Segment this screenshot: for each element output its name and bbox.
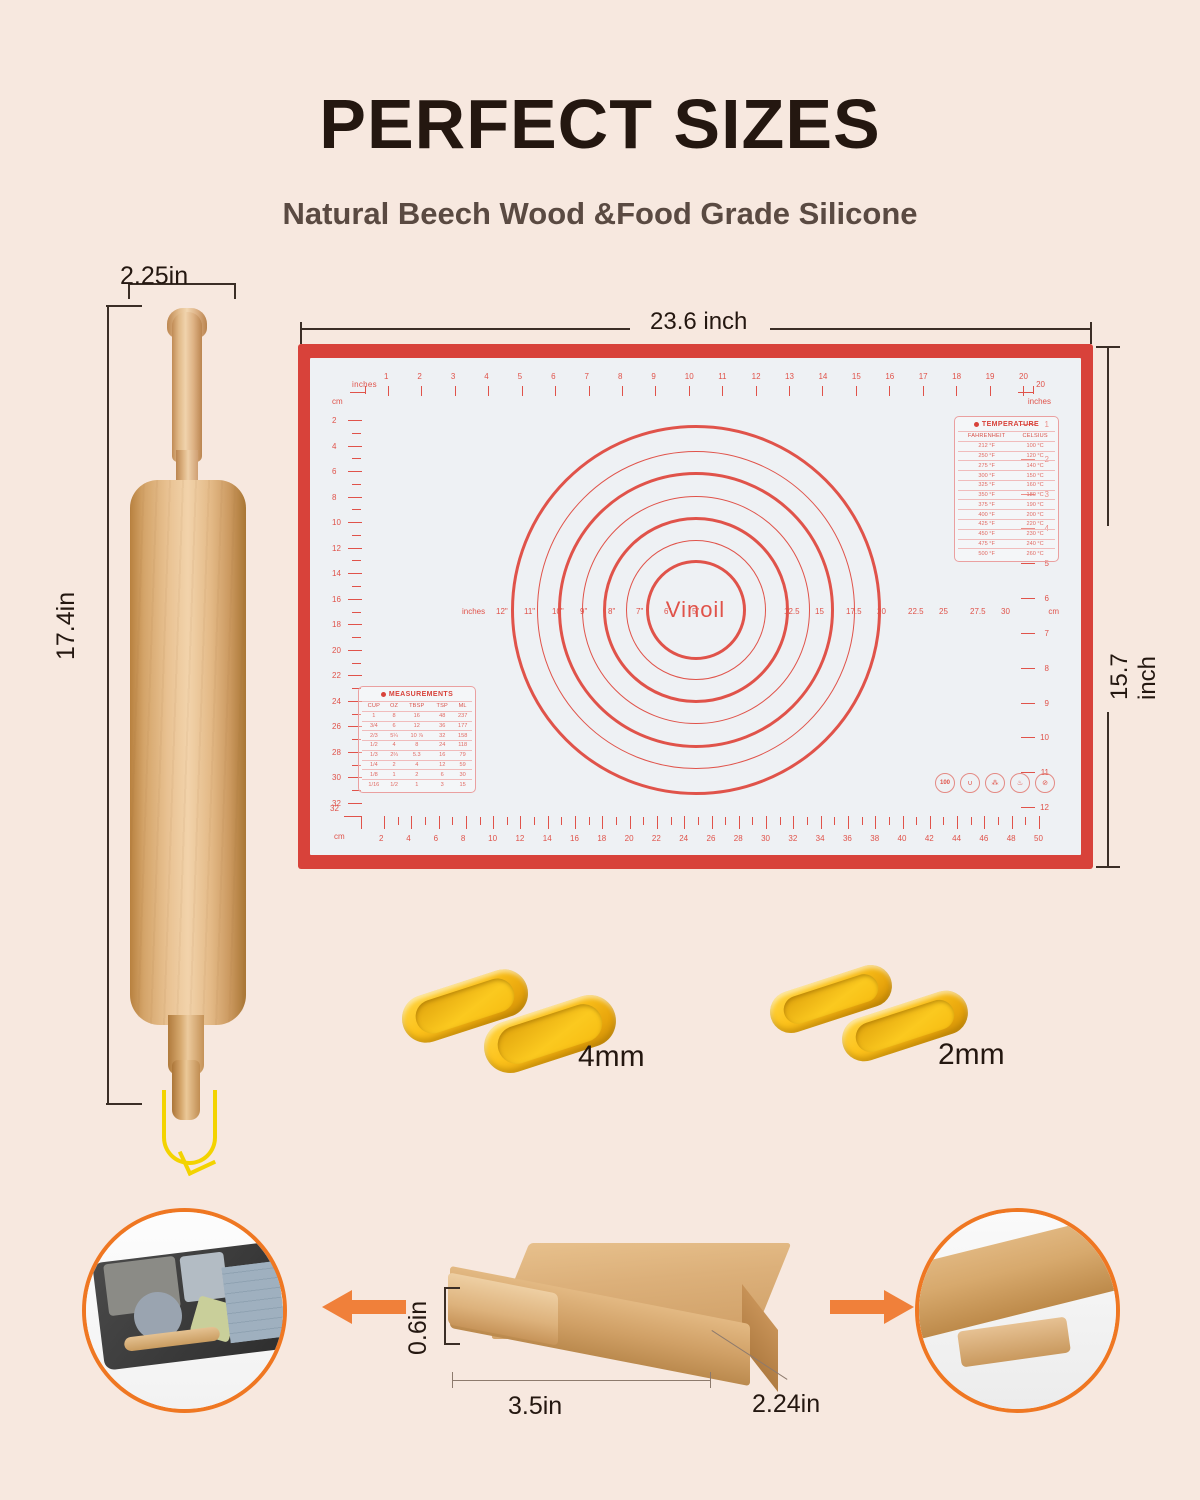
ruler-tick bbox=[1021, 598, 1035, 599]
ruler-label: 7 bbox=[1045, 629, 1049, 638]
ruler-tick bbox=[522, 386, 523, 396]
center-scale-label: 7" bbox=[636, 607, 643, 616]
ruler-half-tick bbox=[534, 817, 535, 825]
ruler-tick bbox=[421, 386, 422, 396]
ruler-tick bbox=[957, 816, 958, 829]
ruler-label: 26 bbox=[707, 834, 716, 843]
ruler-tick bbox=[348, 522, 362, 523]
ruler-label: 32 bbox=[332, 799, 341, 808]
center-scale-label: 30 bbox=[1001, 607, 1010, 616]
ruler-label: 22 bbox=[332, 671, 341, 680]
center-scale-label: 8" bbox=[608, 607, 615, 616]
table-cell: 5.3 bbox=[402, 750, 431, 760]
table-cell: 79 bbox=[453, 750, 472, 760]
ruler-half-tick bbox=[352, 535, 361, 536]
table-cell: 36 bbox=[431, 721, 453, 731]
heat-resistant-icon: ♨ bbox=[1010, 773, 1030, 793]
table-row: 500 °F260 °C bbox=[958, 549, 1055, 558]
ruler-tick bbox=[903, 816, 904, 829]
table-cell: 250 °F bbox=[958, 451, 1015, 461]
table-cell: 3/4 bbox=[362, 721, 386, 731]
ruler-tick bbox=[548, 816, 549, 829]
ruler-tick bbox=[488, 386, 489, 396]
ruler-label: 2 bbox=[417, 372, 421, 381]
mat-bottom-unit-cm: cm bbox=[334, 832, 345, 841]
ruler-tick bbox=[689, 386, 690, 396]
table-cell: 237 bbox=[453, 711, 472, 721]
table-row: 250 °F120 °C bbox=[958, 451, 1055, 461]
ruler-tick bbox=[956, 386, 957, 396]
table-cell: 350 °F bbox=[958, 490, 1015, 500]
certification-icons: 100∪⁂♨⊘ bbox=[935, 773, 1055, 793]
measurements-title: MEASUREMENTS bbox=[389, 691, 453, 698]
mat-width-line-right bbox=[770, 328, 1092, 330]
table-cell: 8 bbox=[386, 711, 403, 721]
ruler-label: 28 bbox=[734, 834, 743, 843]
ruler-tick bbox=[657, 816, 658, 829]
table-cell: 12 bbox=[402, 721, 431, 731]
ruler-tick bbox=[455, 386, 456, 396]
table-cell: 375 °F bbox=[958, 500, 1015, 510]
ruler-tick bbox=[766, 816, 767, 829]
mat-top-unit-inches-right: inches bbox=[1028, 397, 1051, 406]
ruler-tick bbox=[555, 386, 556, 396]
food-safe-icon: ∪ bbox=[960, 773, 980, 793]
pin-top-handle bbox=[172, 312, 202, 462]
table-cell: 16 bbox=[402, 711, 431, 721]
ruler-label: 50 bbox=[1034, 834, 1043, 843]
ruler-tick bbox=[348, 803, 362, 804]
table-column-header: ML bbox=[453, 701, 472, 711]
ruler-tick bbox=[348, 497, 362, 498]
table-row: 475 °F240 °C bbox=[958, 539, 1055, 549]
table-cell: 1 bbox=[386, 770, 403, 780]
ruler-tick bbox=[722, 386, 723, 396]
ruler-label: 4 bbox=[484, 372, 488, 381]
table-cell: 118 bbox=[453, 741, 472, 751]
ruler-label: 12 bbox=[515, 834, 524, 843]
table-cell: 450 °F bbox=[958, 529, 1015, 539]
table-cell: 4 bbox=[386, 741, 403, 751]
ruler-half-tick bbox=[352, 663, 361, 664]
ruler-label: 10 bbox=[1040, 733, 1049, 742]
ruler-label: 6 bbox=[434, 834, 438, 843]
ruler-tick bbox=[602, 816, 603, 829]
table-cell: 100 °C bbox=[1015, 441, 1055, 451]
inset-photo-phone-on-stand bbox=[82, 1208, 287, 1413]
ruler-half-tick bbox=[971, 817, 972, 825]
ruler-label: 18 bbox=[952, 372, 961, 381]
dishwasher-safe-icon: ⁂ bbox=[985, 773, 1005, 793]
ruler-label: 22 bbox=[652, 834, 661, 843]
ruler-label: 6 bbox=[332, 467, 336, 476]
table-column-header: TSP bbox=[431, 701, 453, 711]
ruler-tick bbox=[889, 386, 890, 396]
ruler-label: 9 bbox=[651, 372, 655, 381]
center-scale-left-unit: inches bbox=[462, 607, 485, 616]
ruler-tick bbox=[822, 386, 823, 396]
table-column-header: FAHRENHEIT bbox=[958, 432, 1015, 442]
ruler-half-tick bbox=[780, 817, 781, 825]
center-scale-label: 27.5 bbox=[970, 607, 986, 616]
ruler-tick bbox=[622, 386, 623, 396]
ruler-half-tick bbox=[352, 458, 361, 459]
ruler-label: 8 bbox=[332, 493, 336, 502]
table-cell: 1/4 bbox=[362, 760, 386, 770]
table-cell: 2 bbox=[402, 770, 431, 780]
ruler-label: 14 bbox=[818, 372, 827, 381]
ruler-label: 28 bbox=[332, 748, 341, 757]
ruler-label: 15 bbox=[852, 372, 861, 381]
ruler-tick bbox=[848, 816, 849, 829]
table-column-header: OZ bbox=[386, 701, 403, 711]
mat-surface: inches cm inches 12345678910111213141516… bbox=[310, 358, 1081, 855]
ruler-half-tick bbox=[643, 817, 644, 825]
ruler-label: 24 bbox=[679, 834, 688, 843]
center-scale-label: 10" bbox=[552, 607, 564, 616]
table-cell: 15 bbox=[453, 780, 472, 789]
table-row: 350 °F180 °C bbox=[958, 490, 1055, 500]
mat-width-tick-left bbox=[300, 322, 302, 344]
hundred-percent-icon: 100 bbox=[935, 773, 955, 793]
center-scale-label: 11" bbox=[524, 607, 535, 616]
ruler-label: 32 bbox=[788, 834, 797, 843]
ruler-tick bbox=[348, 573, 362, 574]
ruler-tick bbox=[493, 816, 494, 829]
ruler-label: 24 bbox=[332, 697, 341, 706]
ruler-half-tick bbox=[352, 509, 361, 510]
table-cell: 24 bbox=[431, 741, 453, 751]
table-row: 375 °F190 °C bbox=[958, 500, 1055, 510]
ruler-label: 16 bbox=[570, 834, 579, 843]
center-scale-label: 20 bbox=[877, 607, 886, 616]
ruler-label: 30 bbox=[332, 773, 341, 782]
ruler-label: 44 bbox=[952, 834, 961, 843]
mat-height-line-bottom bbox=[1107, 712, 1109, 867]
brand-logo: Vinoil bbox=[666, 597, 725, 623]
table-cell: 150 °C bbox=[1015, 471, 1055, 481]
ruler-tick bbox=[1012, 816, 1013, 829]
table-cell: 158 bbox=[453, 731, 472, 741]
ruler-tick bbox=[1021, 703, 1035, 704]
ruler-half-tick bbox=[480, 817, 481, 825]
ruler-half-tick bbox=[671, 817, 672, 825]
ruler-tick bbox=[630, 816, 631, 829]
ruler-tick bbox=[789, 386, 790, 396]
temperature-title: TEMPERATURE bbox=[982, 421, 1039, 428]
table-cell: 32 bbox=[431, 731, 453, 741]
table-row: 181648237 bbox=[362, 711, 472, 721]
ruler-tick bbox=[348, 675, 362, 676]
center-scale-label: 25 bbox=[939, 607, 948, 616]
ruler-tick bbox=[875, 816, 876, 829]
ruler-half-tick bbox=[943, 817, 944, 825]
ruler-label: 6 bbox=[1045, 594, 1049, 603]
ruler-label: 48 bbox=[1007, 834, 1016, 843]
table-row: 450 °F230 °C bbox=[958, 529, 1055, 539]
stand-depth-label: 2.24in bbox=[752, 1390, 820, 1419]
ruler-tick bbox=[684, 816, 685, 829]
center-scale-label: 17.5 bbox=[846, 607, 862, 616]
page-title: PERFECT SIZES bbox=[0, 84, 1200, 164]
ruler-half-tick bbox=[1025, 817, 1026, 825]
rolling-pin-illustration bbox=[110, 290, 300, 1120]
table-row: 300 °F150 °C bbox=[958, 471, 1055, 481]
ruler-tick bbox=[821, 816, 822, 829]
ruler-tick bbox=[1023, 386, 1024, 396]
table-cell: 16 bbox=[431, 750, 453, 760]
ruler-half-tick bbox=[398, 817, 399, 825]
ruler-half-tick bbox=[862, 817, 863, 825]
mat-width-label: 23.6 inch bbox=[650, 308, 747, 336]
table-cell: 1/3 bbox=[362, 750, 386, 760]
ring-label-2mm: 2mm bbox=[938, 1038, 1005, 1072]
inset-photo-pin-on-stand bbox=[915, 1208, 1120, 1413]
table-row: 1/24824118 bbox=[362, 741, 472, 751]
ruler-tick bbox=[655, 386, 656, 396]
ruler-tick bbox=[348, 650, 362, 651]
ruler-half-tick bbox=[889, 817, 890, 825]
ring-label-4mm: 4mm bbox=[578, 1040, 645, 1074]
table-cell: 260 °C bbox=[1015, 549, 1055, 558]
ruler-half-tick bbox=[352, 612, 361, 613]
table-column-header: TBSP bbox=[402, 701, 431, 711]
ruler-tick bbox=[348, 548, 362, 549]
ruler-label: 8 bbox=[461, 834, 465, 843]
temperature-table: TEMPERATURE FAHRENHEITCELSIUS212 °F100 °… bbox=[954, 416, 1059, 562]
ruler-label: 16 bbox=[332, 595, 341, 604]
ruler-label: 14 bbox=[543, 834, 552, 843]
ruler-label: 20 bbox=[1019, 372, 1028, 381]
ruler-label: 42 bbox=[925, 834, 934, 843]
ruler-half-tick bbox=[807, 817, 808, 825]
ruler-tick bbox=[856, 386, 857, 396]
table-cell: 10 ⅞ bbox=[402, 731, 431, 741]
ruler-half-tick bbox=[352, 637, 361, 638]
table-row: 1/161/21315 bbox=[362, 780, 472, 789]
stand-width-label: 3.5in bbox=[508, 1392, 562, 1421]
ruler-label: 18 bbox=[597, 834, 606, 843]
table-cell: 160 °C bbox=[1015, 480, 1055, 490]
ruler-half-tick bbox=[352, 560, 361, 561]
measurements-table: MEASUREMENTS CUPOZTBSPTSPML1816482373/46… bbox=[358, 686, 476, 793]
ruler-label: 19 bbox=[986, 372, 995, 381]
ruler-label: 26 bbox=[332, 722, 341, 731]
ruler-tick bbox=[1021, 737, 1035, 738]
ruler-label: 6 bbox=[551, 372, 555, 381]
table-cell: 300 °F bbox=[958, 471, 1015, 481]
ruler-half-tick bbox=[916, 817, 917, 825]
table-cell: 2/3 bbox=[362, 731, 386, 741]
ruler-label: 14 bbox=[332, 569, 341, 578]
wooden-stand-illustration bbox=[448, 1243, 788, 1393]
ruler-label: 10 bbox=[332, 518, 341, 527]
ruler-label: 12 bbox=[332, 544, 341, 553]
ruler-half-tick bbox=[352, 586, 361, 587]
ruler-half-tick bbox=[998, 817, 999, 825]
ruler-tick bbox=[520, 816, 521, 829]
table-column-header: CUP bbox=[362, 701, 386, 711]
table-cell: 140 °C bbox=[1015, 461, 1055, 471]
stand-width-tick-right bbox=[710, 1372, 711, 1388]
ruler-tick bbox=[930, 816, 931, 829]
pin-width-tick-right bbox=[234, 283, 236, 299]
ruler-tick bbox=[575, 816, 576, 829]
ruler-tick bbox=[1021, 668, 1035, 669]
ruler-label: 30 bbox=[761, 834, 770, 843]
table-row: 3/461236177 bbox=[362, 721, 472, 731]
table-column-header: CELSIUS bbox=[1015, 432, 1055, 442]
table-cell: 5¼ bbox=[386, 731, 403, 741]
ruler-half-tick bbox=[352, 433, 361, 434]
stand-height-label: 0.6in bbox=[404, 1301, 433, 1355]
table-cell: 1/2 bbox=[362, 741, 386, 751]
ruler-label: 16 bbox=[885, 372, 894, 381]
ruler-label: 11 bbox=[718, 372, 726, 381]
ruler-label: 20 bbox=[332, 646, 341, 655]
ruler-half-tick bbox=[561, 817, 562, 825]
table-cell: 230 °C bbox=[1015, 529, 1055, 539]
ruler-half-tick bbox=[616, 817, 617, 825]
ruler-label: 1 bbox=[384, 372, 388, 381]
table-cell: 325 °F bbox=[958, 480, 1015, 490]
ruler-tick bbox=[712, 816, 713, 829]
ruler-label: 2 bbox=[379, 834, 383, 843]
table-cell: 177 bbox=[453, 721, 472, 731]
ruler-tick bbox=[348, 599, 362, 600]
ruler-tick bbox=[1021, 563, 1035, 564]
ruler-half-tick bbox=[725, 817, 726, 825]
ruler-half-tick bbox=[425, 817, 426, 825]
center-scale-right-unit: cm bbox=[1048, 607, 1059, 616]
ruler-label: 34 bbox=[816, 834, 825, 843]
table-row: 2/35¼10 ⅞32158 bbox=[362, 731, 472, 741]
ruler-half-tick bbox=[834, 817, 835, 825]
table-cell: 200 °C bbox=[1015, 510, 1055, 520]
table-row: 275 °F140 °C bbox=[958, 461, 1055, 471]
pin-length-label: 17.4in bbox=[52, 592, 81, 660]
table-cell: 240 °C bbox=[1015, 539, 1055, 549]
stand-width-tick-left bbox=[452, 1372, 453, 1388]
table-row: 425 °F220 °C bbox=[958, 520, 1055, 530]
ruler-tick bbox=[388, 386, 389, 396]
ruler-label: 3 bbox=[451, 372, 455, 381]
ruler-label: 17 bbox=[919, 372, 928, 381]
stand-height-tick-top bbox=[444, 1287, 460, 1289]
table-row: 1/4241259 bbox=[362, 760, 472, 770]
ruler-label: 4 bbox=[332, 442, 336, 451]
page-subtitle: Natural Beech Wood &Food Grade Silicone bbox=[0, 196, 1200, 232]
ruler-tick bbox=[411, 816, 412, 829]
ruler-label: 9 bbox=[1045, 699, 1049, 708]
table-row: 1/32⅔5.31679 bbox=[362, 750, 472, 760]
ruler-label: 8 bbox=[618, 372, 622, 381]
ruler-tick bbox=[589, 386, 590, 396]
ruler-tick bbox=[739, 816, 740, 829]
table-cell: 1 bbox=[362, 711, 386, 721]
ruler-label: 4 bbox=[406, 834, 410, 843]
table-cell: 8 bbox=[402, 741, 431, 751]
ruler-label: 38 bbox=[870, 834, 879, 843]
table-cell: 3 bbox=[431, 780, 453, 789]
ruler-label: 8 bbox=[1045, 664, 1049, 673]
ruler-label: 20 bbox=[625, 834, 634, 843]
no-knife-icon: ⊘ bbox=[1035, 773, 1055, 793]
ruler-tick bbox=[1021, 807, 1035, 808]
mat-height-label: 15.7 inch bbox=[1106, 606, 1162, 700]
table-cell: 220 °C bbox=[1015, 520, 1055, 530]
table-cell: 1/8 bbox=[362, 770, 386, 780]
pin-length-line bbox=[107, 305, 109, 1103]
pin-length-tick-bottom bbox=[106, 1103, 142, 1105]
ruler-tick bbox=[990, 386, 991, 396]
table-row: 212 °F100 °C bbox=[958, 441, 1055, 451]
stand-height-tick-bottom bbox=[444, 1343, 460, 1345]
ruler-label: 12 bbox=[1040, 803, 1049, 812]
ruler-label: 13 bbox=[785, 372, 794, 381]
center-scale-label: 9" bbox=[580, 607, 587, 616]
table-cell: 425 °F bbox=[958, 520, 1015, 530]
table-cell: 30 bbox=[453, 770, 472, 780]
ruler-tick bbox=[1021, 633, 1035, 634]
table-cell: 59 bbox=[453, 760, 472, 770]
ruler-label: 12 bbox=[752, 372, 761, 381]
table-cell: 1/2 bbox=[386, 780, 403, 789]
pin-length-tick-top bbox=[106, 305, 142, 307]
ruler-half-tick bbox=[452, 817, 453, 825]
ruler-tick bbox=[756, 386, 757, 396]
table-cell: 4 bbox=[402, 760, 431, 770]
ruler-half-tick bbox=[589, 817, 590, 825]
table-cell: 2⅔ bbox=[386, 750, 403, 760]
table-cell: 12 bbox=[431, 760, 453, 770]
table-row: 1/812630 bbox=[362, 770, 472, 780]
ruler-label: 46 bbox=[979, 834, 988, 843]
table-cell: 48 bbox=[431, 711, 453, 721]
silicone-baking-mat: inches cm inches 12345678910111213141516… bbox=[298, 344, 1093, 869]
ruler-tick bbox=[923, 386, 924, 396]
center-scale-label: 12.5 bbox=[784, 607, 800, 616]
ruler-label: 36 bbox=[843, 834, 852, 843]
mat-top-unit-cm: cm bbox=[332, 397, 343, 406]
ruler-half-tick bbox=[752, 817, 753, 825]
table-cell: 1 bbox=[402, 780, 431, 789]
table-cell: 212 °F bbox=[958, 441, 1015, 451]
ruler-half-tick bbox=[352, 484, 361, 485]
ruler-tick bbox=[384, 816, 385, 829]
stand-width-line bbox=[452, 1380, 710, 1381]
table-cell: 1/16 bbox=[362, 780, 386, 789]
infographic-canvas: PERFECT SIZES Natural Beech Wood &Food G… bbox=[0, 0, 1200, 1500]
ruler-label: 5 bbox=[518, 372, 522, 381]
center-scale-label: 12" bbox=[496, 607, 508, 616]
table-cell: 6 bbox=[431, 770, 453, 780]
table-cell: 180 °C bbox=[1015, 490, 1055, 500]
ruler-label: 18 bbox=[332, 620, 341, 629]
temperature-bullet-icon bbox=[974, 422, 979, 427]
ruler-label: 10 bbox=[685, 372, 694, 381]
center-scale-label: 15 bbox=[815, 607, 824, 616]
table-cell: 275 °F bbox=[958, 461, 1015, 471]
ruler-half-tick bbox=[507, 817, 508, 825]
ruler-label: 10 bbox=[488, 834, 497, 843]
stand-height-line bbox=[444, 1287, 446, 1345]
ruler-tick bbox=[348, 624, 362, 625]
mat-width-tick-right bbox=[1090, 322, 1092, 344]
table-cell: 190 °C bbox=[1015, 500, 1055, 510]
ruler-label: 2 bbox=[332, 416, 336, 425]
ruler-tick bbox=[348, 471, 362, 472]
